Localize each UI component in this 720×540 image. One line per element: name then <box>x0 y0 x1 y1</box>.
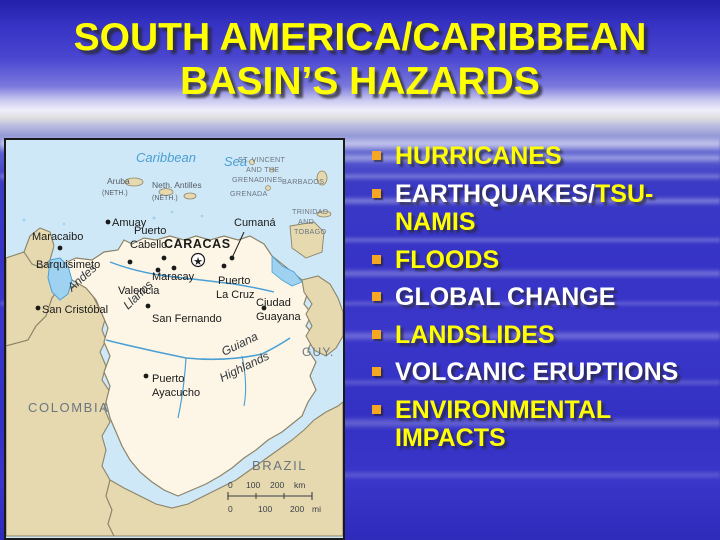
map-label-colombia: COLOMBIA <box>28 400 109 415</box>
square-bullet-icon <box>372 189 381 198</box>
map-label-san-cristobal: San Cristóbal <box>42 304 108 316</box>
scale-km-unit: km <box>294 480 305 490</box>
map-label-puerto: Puerto <box>134 225 166 237</box>
list-item: HURRICANES <box>368 142 716 171</box>
scale-mi-100: 100 <box>258 504 272 514</box>
map-label-aruba: Aruba <box>107 176 130 186</box>
map-label-la-cruz: La Cruz <box>216 289 255 301</box>
square-bullet-icon <box>372 330 381 339</box>
reef-dot <box>153 217 156 220</box>
city-dot-valencia <box>156 268 161 273</box>
list-item: GLOBAL CHANGE <box>368 283 716 312</box>
map-label-guy: GUY. <box>302 345 335 359</box>
reef-dot <box>63 223 65 225</box>
square-bullet-icon <box>372 367 381 376</box>
svg-text:★: ★ <box>193 256 203 268</box>
city-dot-san-fernando <box>146 304 151 309</box>
map-label-antilles-neth: (NETH.) <box>152 195 178 202</box>
map-label-maracay: Maracay <box>152 271 195 283</box>
map-label-trinidad-2: AND <box>298 217 314 226</box>
city-dot-puerto-cabello <box>162 256 167 261</box>
map-label-trinidad-3: TOBAGO <box>294 227 327 236</box>
city-dot-san-cristobal <box>36 306 41 311</box>
list-item: LANDSLIDES <box>368 321 716 350</box>
map-label-barbados: BARBADOS <box>282 177 324 186</box>
map-label-trinidad-1: TRINIDAD <box>292 207 328 216</box>
bullet-label-earthquakes: EARTHQUAKES/TSU-NAMIS <box>395 180 716 237</box>
scale-mi-unit: mi <box>312 504 321 514</box>
map-label-puerto2: Puerto <box>218 275 250 287</box>
bullet-label-floods: FLOODS <box>395 246 716 275</box>
slide-title-line-1: SOUTH AMERICA/CARIBBEAN <box>74 16 647 59</box>
map-graphic: Caribbean Sea Aruba (NETH.) Neth. Antill… <box>6 140 343 538</box>
map-label-cabello: Cabello <box>130 239 167 251</box>
city-dot-puerto-la-cruz <box>222 264 227 269</box>
bullet-label-environmental-impacts: ENVIRONMENTAL IMPACTS <box>395 396 716 453</box>
city-dot-barquisimeto <box>128 260 133 265</box>
bullet-label-global-change: GLOBAL CHANGE <box>395 283 716 312</box>
city-dot-puerto-ayacucho <box>144 374 149 379</box>
map-label-puerto3: Puerto <box>152 373 184 385</box>
scale-mi-0: 0 <box>228 504 233 514</box>
list-item: EARTHQUAKES/TSU-NAMIS <box>368 180 716 237</box>
map-label-st-vincent-1: ST. VINCENT <box>238 155 286 164</box>
map-label-neth-antilles: Neth. Antilles <box>152 180 202 190</box>
bullet-label-landslides: LANDSLIDES <box>395 321 716 350</box>
hazards-bullet-list: HURRICANES EARTHQUAKES/TSU-NAMIS FLOODS … <box>368 142 716 462</box>
square-bullet-icon <box>372 151 381 160</box>
city-dot-maracaibo <box>58 246 63 251</box>
scale-km-200: 200 <box>270 480 284 490</box>
list-item: VOLCANIC ERUPTIONS <box>368 358 716 387</box>
map-label-aruba-neth: (NETH.) <box>102 190 128 197</box>
map-label-cumana: Cumaná <box>234 217 276 229</box>
reef-dot <box>171 211 174 214</box>
map-label-st-vincent-3: GRENADINES <box>232 175 283 184</box>
map-label-ciudad: Ciudad <box>256 297 291 309</box>
list-item: ENVIRONMENTAL IMPACTS <box>368 396 716 453</box>
city-dot-amuay <box>106 220 111 225</box>
map-label-caribbean: Caribbean <box>136 150 196 165</box>
map-label-caracas: CARACAS <box>164 237 231 251</box>
square-bullet-icon <box>372 292 381 301</box>
map-label-san-fernando: San Fernando <box>152 313 222 325</box>
map-label-st-vincent-2: AND THE <box>246 165 280 174</box>
reef-dot <box>201 215 204 218</box>
bullet-label-volcanic-eruptions: VOLCANIC ERUPTIONS <box>395 358 716 387</box>
square-bullet-icon <box>372 255 381 264</box>
scale-km-0: 0 <box>228 480 233 490</box>
map-label-ayacucho: Ayacucho <box>152 387 200 399</box>
bullet-label-earthquakes-part1: EARTHQUAKES/ <box>395 180 595 208</box>
map-label-guayana: Guayana <box>256 311 302 323</box>
list-item: FLOODS <box>368 246 716 275</box>
map-label-brazil: BRAZIL <box>252 458 307 473</box>
map-label-maracaibo: Maracaibo <box>32 231 83 243</box>
scale-mi-200: 200 <box>290 504 304 514</box>
map-label-grenada: GRENADA <box>230 189 268 198</box>
venezuela-map-image: Caribbean Sea Aruba (NETH.) Neth. Antill… <box>4 138 345 540</box>
slide-title: SOUTH AMERICA/CARIBBEAN BASIN’S HAZARDS <box>0 16 720 103</box>
scale-km-100: 100 <box>246 480 260 490</box>
slide-title-line-2: BASIN’S HAZARDS <box>0 60 720 104</box>
city-dot-maracay <box>172 266 177 271</box>
capital-symbol-caracas: ★ <box>192 254 205 269</box>
square-bullet-icon <box>372 405 381 414</box>
reef-dot <box>23 219 26 222</box>
bullet-label-hurricanes: HURRICANES <box>395 142 716 171</box>
bonaire-island <box>184 193 196 199</box>
slide-canvas: SOUTH AMERICA/CARIBBEAN BASIN’S HAZARDS <box>0 0 720 540</box>
